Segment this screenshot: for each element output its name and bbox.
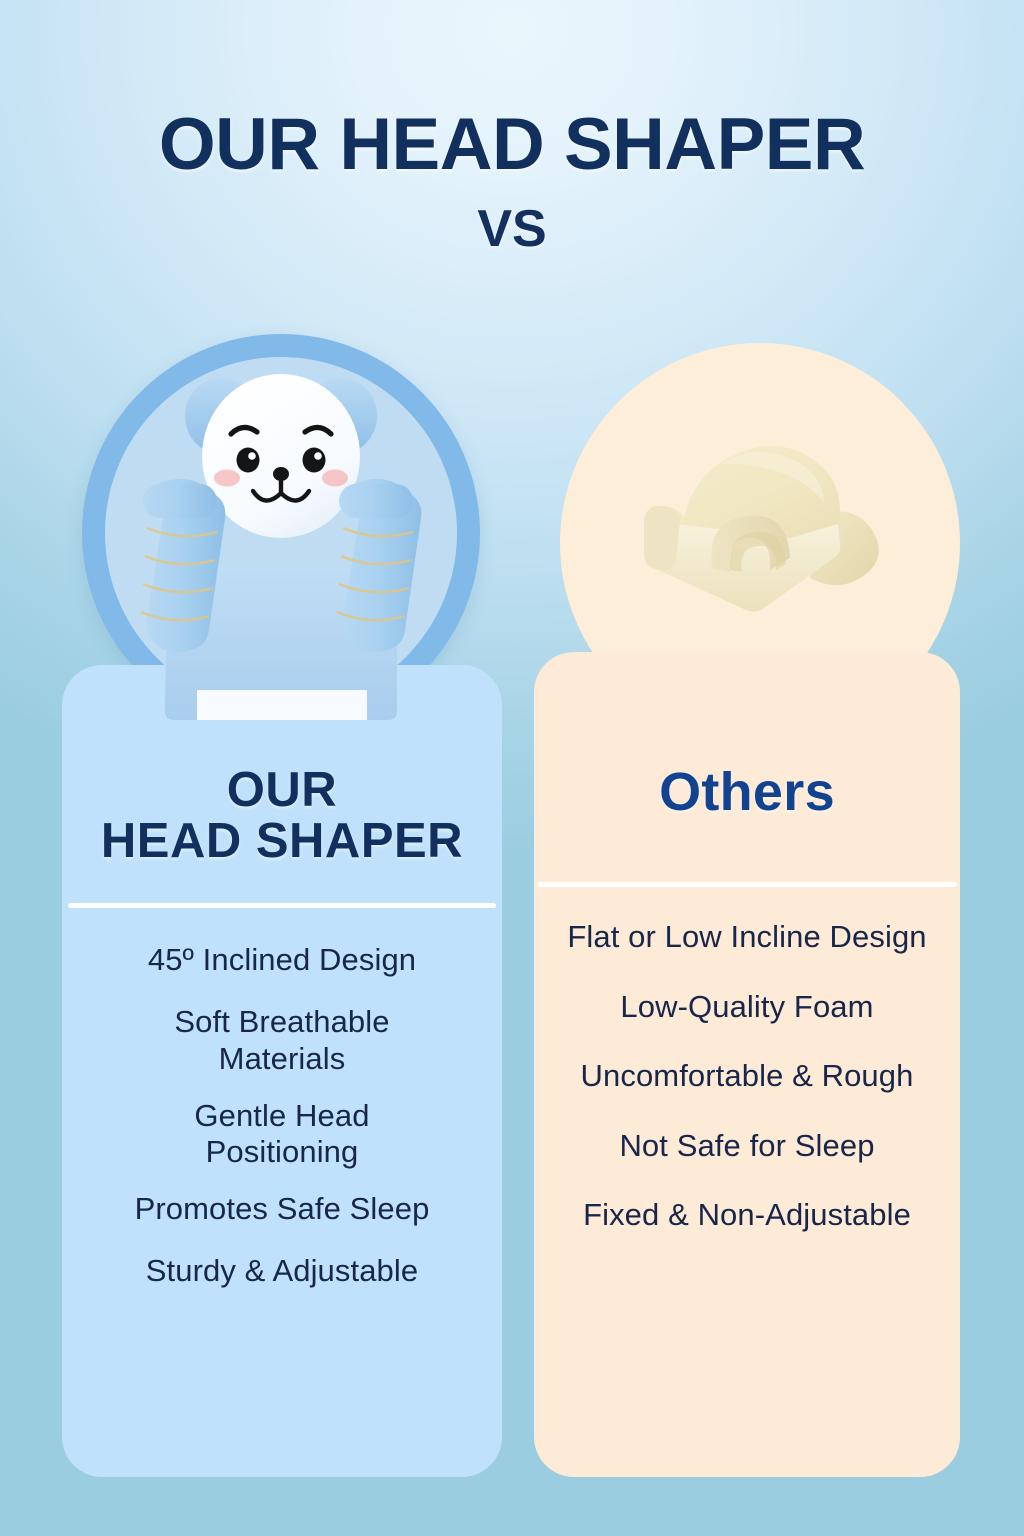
others-card-title: Others	[534, 765, 960, 819]
others-feature-list: Flat or Low Incline Design Low-Quality F…	[534, 887, 960, 1234]
list-item: 45º Inclined Design	[80, 942, 484, 979]
list-item: Soft Breathable Materials	[80, 1004, 484, 1077]
others-product-card[interactable]: Others Flat or Low Incline Design Low-Qu…	[534, 652, 960, 1477]
others-card-header: Others	[534, 652, 960, 887]
headline-block: OUR HEAD SHAPER VS	[0, 108, 1024, 255]
list-item: Not Safe for Sleep	[552, 1128, 942, 1165]
list-item: Fixed & Non-Adjustable	[552, 1197, 942, 1234]
list-item: Low-Quality Foam	[552, 989, 942, 1026]
our-card-title-line2: HEAD SHAPER	[62, 816, 502, 867]
list-item: Gentle Head Positioning	[80, 1098, 484, 1171]
vs-label: VS	[0, 203, 1024, 255]
blue-bear-head-shaper-image	[105, 360, 457, 720]
list-item: Promotes Safe Sleep	[80, 1191, 484, 1228]
beige-foam-pillow-image	[600, 420, 920, 650]
our-card-title-line1: OUR	[62, 765, 502, 816]
list-item: Flat or Low Incline Design	[552, 919, 942, 956]
list-item: Sturdy & Adjustable	[80, 1253, 484, 1290]
our-feature-list: 45º Inclined Design Soft Breathable Mate…	[62, 908, 502, 1290]
page-title: OUR HEAD SHAPER	[0, 108, 1024, 181]
list-item: Uncomfortable & Rough	[552, 1058, 942, 1095]
comparison-infographic: OUR HEAD SHAPER VS OUR HEAD SHAPER 45º I…	[0, 0, 1024, 1536]
our-product-card[interactable]: OUR HEAD SHAPER 45º Inclined Design Soft…	[62, 665, 502, 1477]
